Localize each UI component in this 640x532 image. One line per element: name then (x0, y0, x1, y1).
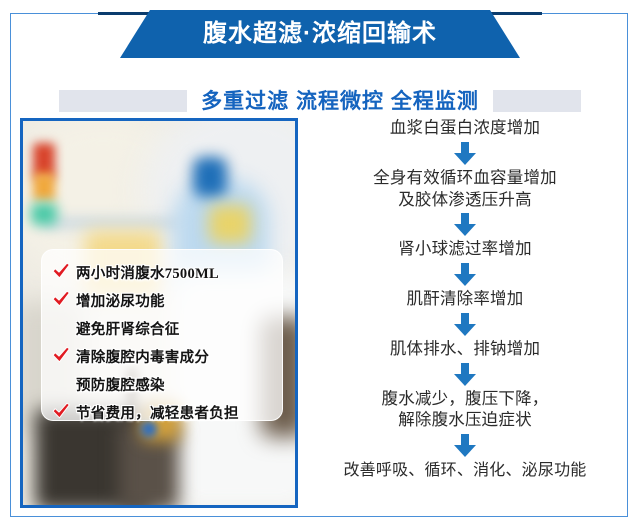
list-item-label: 两小时消腹水7500ML (76, 262, 219, 283)
benefits-list: 两小时消腹水7500ML增加泌尿功能避免肝肾综合征清除腹腔内毒害成分预防腹腔感染… (42, 258, 282, 426)
check-icon (51, 261, 71, 281)
down-arrow-icon (452, 434, 478, 458)
flow-arrow (452, 142, 478, 166)
down-arrow-icon (452, 142, 478, 166)
banner-ribbon: 腹水超滤·浓缩回输术 (120, 10, 520, 58)
flow-arrow (452, 263, 478, 287)
list-item-label: 清除腹腔内毒害成分 (76, 346, 209, 367)
list-item-label: 节省费用，减轻患者负担 (76, 402, 239, 423)
flow-step: 肌体排水、排钠增加 (390, 339, 540, 361)
check-icon-slot (48, 399, 76, 425)
flow-arrow (452, 213, 478, 237)
list-item: 节省费用，减轻患者负担 (42, 398, 282, 426)
infographic-page: 腹水超滤·浓缩回输术 多重过滤 流程微控 全程监测 (0, 0, 640, 532)
photo-panel: 两小时消腹水7500ML增加泌尿功能避免肝肾综合征清除腹腔内毒害成分预防腹腔感染… (20, 118, 298, 508)
flow-arrow (452, 313, 478, 337)
down-arrow-icon (452, 213, 478, 237)
empty-bullet-slot (48, 315, 76, 341)
page-title: 腹水超滤·浓缩回输术 (203, 22, 437, 46)
benefits-overlay-card: 两小时消腹水7500ML增加泌尿功能避免肝肾综合征清除腹腔内毒害成分预防腹腔感染… (41, 249, 283, 421)
flow-step: 全身有效循环血容量增加 及胶体渗透压升高 (373, 168, 557, 212)
down-arrow-icon (452, 363, 478, 387)
check-icon (51, 401, 71, 421)
subtitle-row: 多重过滤 流程微控 全程监测 (20, 86, 620, 116)
check-icon-slot (48, 287, 76, 313)
list-item-label: 增加泌尿功能 (76, 290, 165, 311)
list-item: 两小时消腹水7500ML (42, 258, 282, 286)
check-icon-slot (48, 259, 76, 285)
flow-step: 肌酐清除率增加 (407, 289, 524, 311)
subtitle-left-bar (59, 90, 187, 112)
flow-step: 肾小球滤过率增加 (398, 239, 532, 261)
check-icon (51, 345, 71, 365)
title-banner: 腹水超滤·浓缩回输术 (0, 0, 640, 62)
check-icon (51, 289, 71, 309)
flow-step: 改善呼吸、循环、消化、泌尿功能 (343, 460, 586, 481)
down-arrow-icon (452, 263, 478, 287)
list-item: 清除腹腔内毒害成分 (42, 342, 282, 370)
down-arrow-icon (452, 313, 478, 337)
flow-step: 血浆白蛋白浓度增加 (390, 118, 540, 140)
flow-arrow (452, 434, 478, 458)
flow-step: 腹水减少，腹压下降， 解除腹水压迫症状 (382, 389, 549, 433)
subtitle-right-bar (493, 90, 581, 112)
list-item: 避免肝肾综合征 (42, 314, 282, 342)
subtitle-text: 多重过滤 流程微控 全程监测 (201, 91, 479, 112)
list-item: 预防腹腔感染 (42, 370, 282, 398)
list-item-label: 避免肝肾综合征 (76, 318, 180, 339)
process-flowchart: 血浆白蛋白浓度增加全身有效循环血容量增加 及胶体渗透压升高肾小球滤过率增加肌酐清… (300, 118, 630, 510)
check-icon-slot (48, 343, 76, 369)
list-item: 增加泌尿功能 (42, 286, 282, 314)
empty-bullet-slot (48, 371, 76, 397)
list-item-label: 预防腹腔感染 (76, 374, 165, 395)
flow-arrow (452, 363, 478, 387)
